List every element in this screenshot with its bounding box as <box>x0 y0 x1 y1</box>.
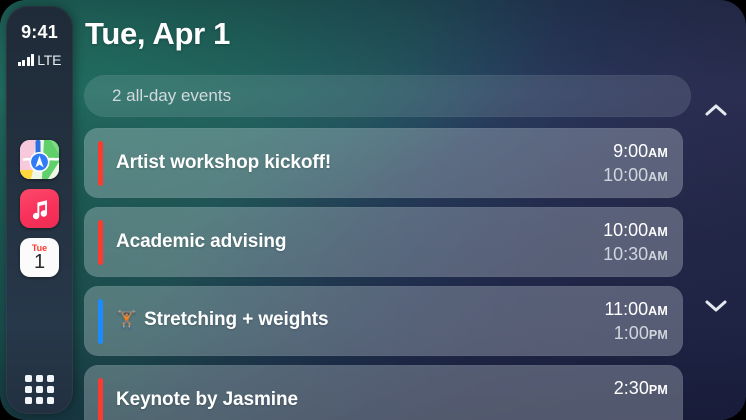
event-end-time: 10:30AM <box>603 243 668 267</box>
sidebar: 9:41 LTE <box>6 6 73 414</box>
event-start-value: 11:00 <box>604 299 648 319</box>
event-card[interactable]: Keynote by Jasmine 2:30PM <box>84 365 683 420</box>
music-note-icon <box>28 197 52 221</box>
event-end-meridiem: PM <box>649 328 668 342</box>
event-start-meridiem: AM <box>648 146 668 160</box>
event-start-meridiem: AM <box>648 225 668 239</box>
calendar-app-icon[interactable]: Tue 1 <box>20 238 59 277</box>
app-grid-icon[interactable] <box>23 373 56 406</box>
event-end-value: 1:00 <box>614 323 649 343</box>
event-accent-bar <box>98 378 103 420</box>
carplay-screen: 9:41 LTE <box>0 0 746 420</box>
event-start-time: 2:30PM <box>614 377 668 401</box>
music-app-icon[interactable] <box>20 189 59 228</box>
event-end-time: 10:00AM <box>603 164 668 188</box>
event-title: Keynote by Jasmine <box>116 389 298 411</box>
event-end-value: 10:30 <box>603 244 648 264</box>
event-accent-bar <box>98 141 103 186</box>
calendar-daynumber: 1 <box>34 252 45 272</box>
event-end-value: 10:00 <box>603 165 648 185</box>
calendar-content: Tue, Apr 1 2 all-day events Artist works… <box>79 0 746 420</box>
network-label: LTE <box>37 54 61 66</box>
weightlifter-emoji-icon: 🏋🏽 <box>116 310 137 330</box>
maps-icon-art <box>20 140 59 179</box>
chevron-up-icon[interactable] <box>699 100 733 120</box>
event-title-text: Stretching + weights <box>144 309 328 331</box>
event-start-time: 11:00AM <box>604 298 668 322</box>
event-times: 11:00AM 1:00PM <box>604 298 668 346</box>
event-times: 2:30PM <box>614 377 668 401</box>
event-start-time: 9:00AM <box>603 140 668 164</box>
event-card[interactable]: Academic advising 10:00AM 10:30AM <box>84 207 683 277</box>
event-times: 10:00AM 10:30AM <box>603 219 668 267</box>
event-start-value: 2:30 <box>614 378 649 398</box>
event-times: 9:00AM 10:00AM <box>603 140 668 188</box>
all-day-events-label: 2 all-day events <box>112 75 231 117</box>
event-title: Artist workshop kickoff! <box>116 152 331 174</box>
maps-app-icon[interactable] <box>20 140 59 179</box>
event-card[interactable]: Artist workshop kickoff! 9:00AM 10:00AM <box>84 128 683 198</box>
event-card[interactable]: 🏋🏽Stretching + weights 11:00AM 1:00PM <box>84 286 683 356</box>
page-title: Tue, Apr 1 <box>85 16 230 52</box>
status-bar: LTE <box>6 48 73 66</box>
event-accent-bar <box>98 220 103 265</box>
all-day-events-row[interactable]: 2 all-day events <box>84 75 691 117</box>
event-start-meridiem: PM <box>649 383 668 397</box>
event-start-value: 10:00 <box>603 220 648 240</box>
event-end-meridiem: AM <box>648 170 668 184</box>
event-start-time: 10:00AM <box>603 219 668 243</box>
event-end-meridiem: AM <box>648 249 668 263</box>
cellular-bars-icon <box>18 54 35 66</box>
event-title: Academic advising <box>116 231 286 253</box>
status-clock: 9:41 <box>6 22 73 43</box>
event-accent-bar <box>98 299 103 344</box>
chevron-down-icon[interactable] <box>699 296 733 316</box>
event-start-value: 9:00 <box>613 141 648 161</box>
event-start-meridiem: AM <box>648 304 668 318</box>
event-title: 🏋🏽Stretching + weights <box>116 309 328 331</box>
event-end-time: 1:00PM <box>604 322 668 346</box>
